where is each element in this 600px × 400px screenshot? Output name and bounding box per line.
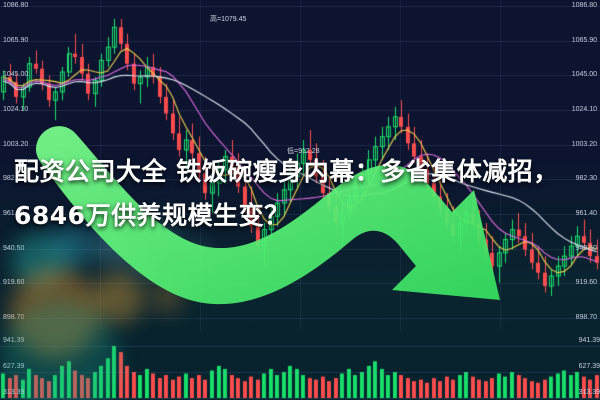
bokeh-light xyxy=(130,250,156,276)
headline-text: 配资公司大全 铁饭碗瘦身内幕：多省集体减招，6846万供养规模生变？ xyxy=(14,150,588,238)
bokeh-light xyxy=(150,280,184,314)
bokeh-light xyxy=(186,240,208,262)
chart-screenshot: 1086.801086.801065.901065.901045.001045.… xyxy=(0,0,600,400)
chart-annotation: 高=1079.45 xyxy=(210,14,246,24)
